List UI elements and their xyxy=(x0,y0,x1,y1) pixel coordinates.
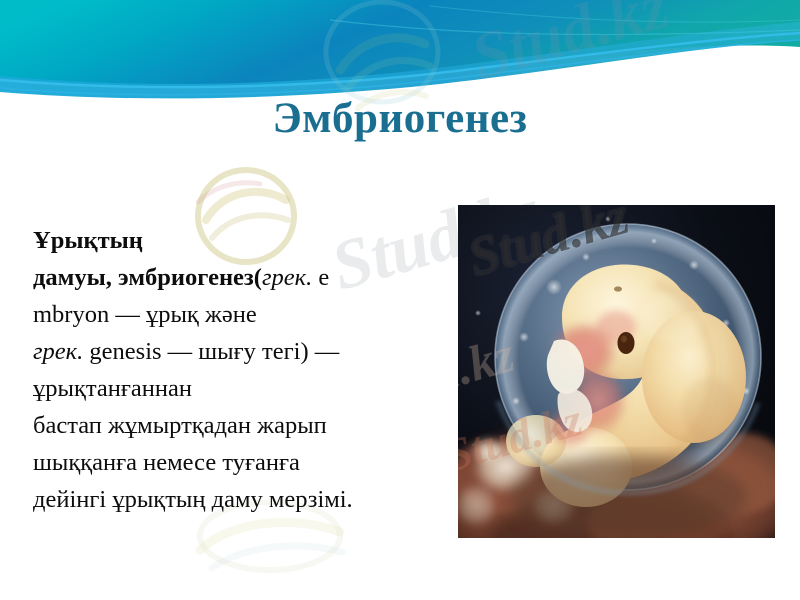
presentation-slide: Stud.kz Stud.kz Stud.kz Эмбриогенез Ұрық… xyxy=(0,0,800,600)
body-segment: Ұрықтың xyxy=(33,227,143,254)
body-segment: бастап жұмыртқадан жарып xyxy=(33,412,327,439)
body-line: ұрықтанғаннан xyxy=(33,370,438,407)
body-segment: ұрықтанғаннан xyxy=(33,375,192,402)
body-segment: грек. xyxy=(262,264,312,291)
body-line: Ұрықтың xyxy=(33,222,438,259)
body-line: шыққанға немесе туғанға xyxy=(33,444,438,481)
body-segment: грек. xyxy=(33,338,83,365)
body-segment: шыққанға немесе туғанға xyxy=(33,449,300,476)
body-segment: mbryon — ұрық және xyxy=(33,301,257,328)
embryo-photo: . Stud.kz d.kz Stud.kz xyxy=(458,205,775,538)
body-line: грек. genesis — шығу тегі) — xyxy=(33,333,438,370)
body-line: mbryon — ұрық және xyxy=(33,296,438,333)
body-line: бастап жұмыртқадан жарып xyxy=(33,407,438,444)
body-segment: genesis — шығу тегі) — xyxy=(83,338,339,365)
body-segment: дамуы, эмбриогенез( xyxy=(33,264,262,291)
slide-title: Эмбриогенез xyxy=(0,96,800,141)
body-segment: дейінгі ұрықтың даму мерзімі. xyxy=(33,486,353,513)
slide-body-text: Ұрықтың дамуы, эмбриогенез(грек. e mbryo… xyxy=(33,222,438,518)
body-line: дамуы, эмбриогенез(грек. e xyxy=(33,259,438,296)
body-segment: e xyxy=(312,264,329,291)
body-line: дейінгі ұрықтың даму мерзімі. xyxy=(33,481,438,518)
